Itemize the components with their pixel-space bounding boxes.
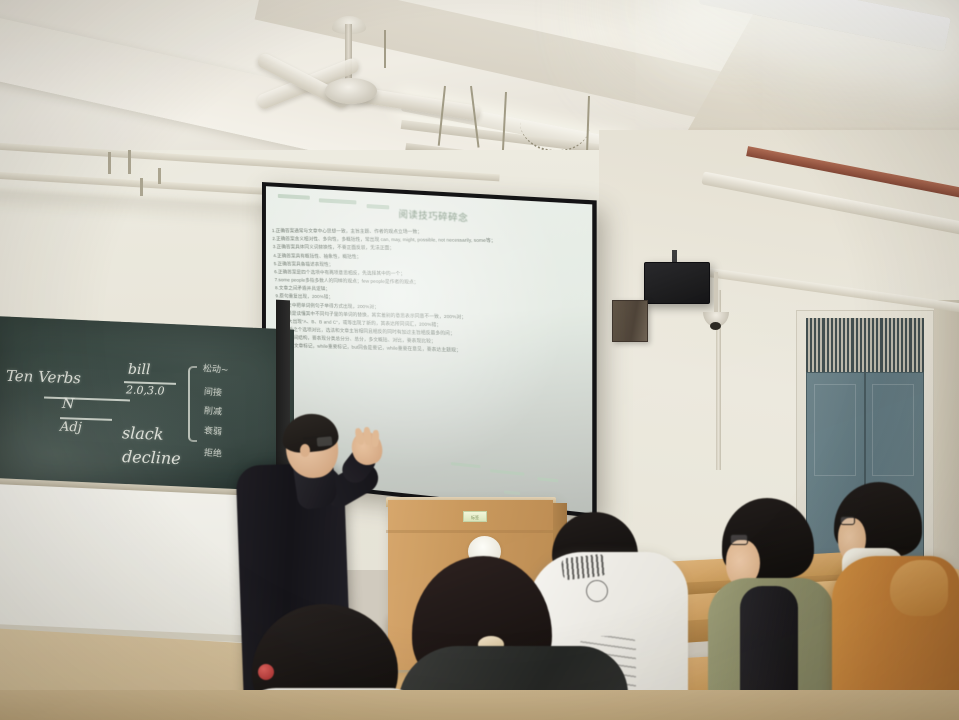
rail-bracket xyxy=(140,178,143,196)
window-bar xyxy=(870,318,872,372)
window-bar xyxy=(891,318,893,372)
chalk-cn-note: 松动~ xyxy=(203,361,229,376)
chalk-text-decline: decline xyxy=(122,447,181,468)
window-bar xyxy=(841,318,843,372)
teacher-ear xyxy=(300,444,310,457)
window-bar xyxy=(862,318,864,372)
lectern-edge xyxy=(386,530,556,533)
window-bar xyxy=(820,318,822,372)
lectern-sticker: 标签 xyxy=(463,511,487,522)
wall-monitor-icon[interactable] xyxy=(644,262,710,304)
window-bar xyxy=(899,318,901,372)
hair-accessory-icon xyxy=(258,664,274,680)
chalk-cn-note: 衰弱 xyxy=(204,423,223,437)
slide-decor-bar xyxy=(278,194,309,200)
slide-footer-bar xyxy=(490,469,524,476)
door-panel-inset xyxy=(872,384,914,476)
rail-bracket xyxy=(158,168,161,184)
slide-decor-bar xyxy=(366,204,388,209)
fan-hub xyxy=(325,78,377,104)
chalk-text-slack: slack xyxy=(122,423,164,443)
window-bar xyxy=(903,318,905,372)
chalk-cn-note: 拒绝 xyxy=(204,445,223,459)
slide-footer-bar xyxy=(504,490,521,495)
chalk-text-ten-verbs: Ten Verbs xyxy=(6,367,82,388)
door-panel-inset xyxy=(814,384,856,476)
floor xyxy=(0,690,959,720)
window-bar xyxy=(854,318,856,372)
window-bar xyxy=(858,318,860,372)
rail-bracket xyxy=(128,150,131,174)
glasses-icon xyxy=(316,435,334,447)
chalk-cn-note: 削减 xyxy=(204,403,223,417)
window-bar xyxy=(907,318,909,372)
window-bar xyxy=(878,318,880,372)
slide-footer-bar xyxy=(538,477,558,482)
jacket-hood xyxy=(890,560,948,616)
window-bar xyxy=(816,318,818,372)
window-bar xyxy=(895,318,897,372)
window-bar xyxy=(874,318,876,372)
chalk-text-adj: Adj xyxy=(60,420,82,436)
chalk-text-bill: bill xyxy=(128,362,151,378)
chalk-cn-note: 间接 xyxy=(204,384,223,398)
jacket-graphic-circle xyxy=(586,580,608,602)
window-bar xyxy=(833,318,835,372)
window-bar xyxy=(845,318,847,372)
camera-lens-icon xyxy=(710,322,721,330)
glasses-icon xyxy=(730,534,748,545)
window-bar xyxy=(825,318,827,372)
chalk-text-numbers: 2.0,3.0 xyxy=(126,383,165,397)
chalk-brace xyxy=(188,366,197,442)
window-bar xyxy=(912,318,914,372)
right-wall-edge xyxy=(934,300,959,600)
window-bar xyxy=(849,318,851,372)
glasses-icon xyxy=(840,516,855,525)
slide-body: 1.正确答案通常与文章中心思想一致，主旨主题、作者的观点立场一致； 2.正确答案… xyxy=(272,227,589,359)
wall-speaker-icon xyxy=(612,300,648,342)
rail-bracket xyxy=(108,152,111,174)
slide-decor-bar xyxy=(319,199,357,205)
slide-footer-bar xyxy=(451,462,481,468)
window-bar xyxy=(866,318,868,372)
window-bar xyxy=(920,318,922,372)
classroom-scene: 阅读技巧碎碎念 1.正确答案通常与文章中心思想一致，主旨主题、作者的观点立场一致… xyxy=(0,0,959,720)
window-bar xyxy=(812,318,814,372)
door-transom-window xyxy=(806,318,924,372)
slide-title: 阅读技巧碎碎念 xyxy=(399,207,469,225)
window-bar xyxy=(916,318,918,372)
window-bar xyxy=(887,318,889,372)
hanging-wire xyxy=(384,30,386,68)
window-bar xyxy=(829,318,831,372)
chalk-text-n: N xyxy=(62,396,75,412)
window-bar xyxy=(808,318,810,372)
window-bar xyxy=(883,318,885,372)
window-bar xyxy=(837,318,839,372)
